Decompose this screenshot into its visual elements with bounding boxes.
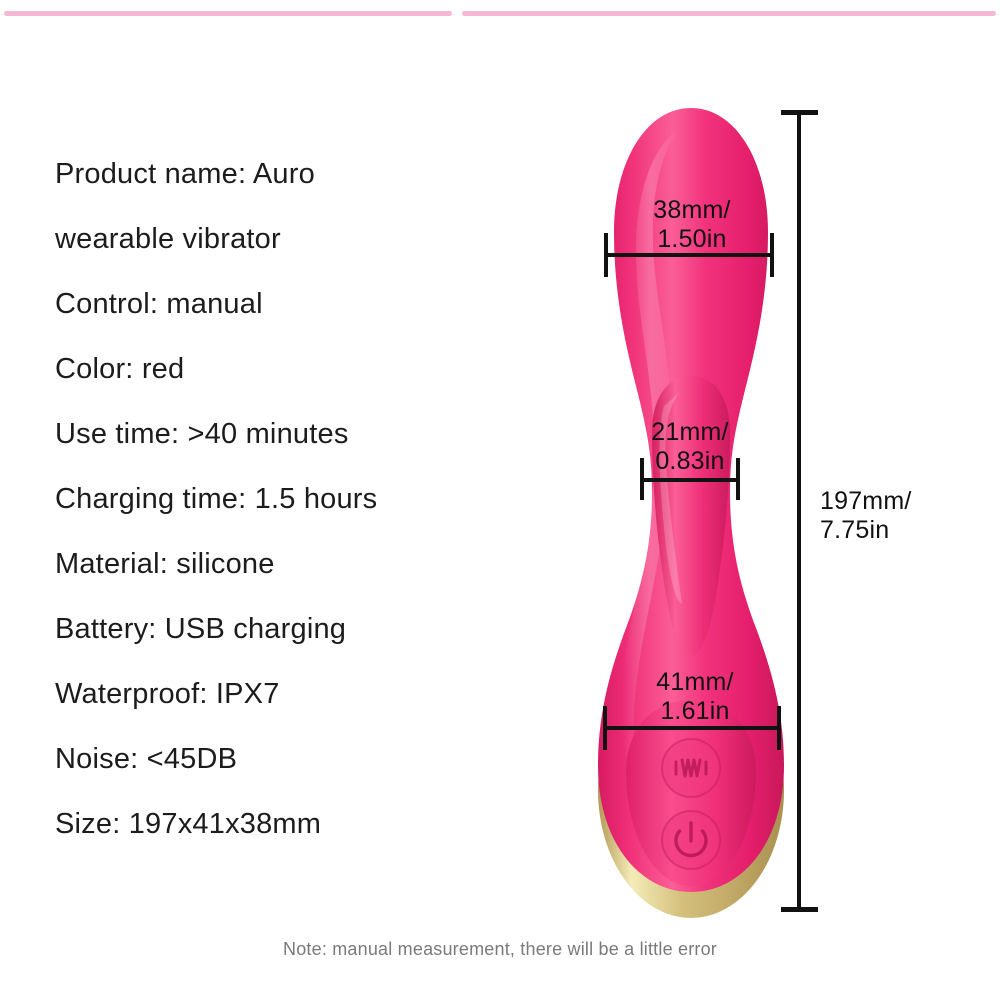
measure-cap-bottom-left xyxy=(603,706,607,750)
spec-control: Control: manual xyxy=(55,272,485,337)
measure-line-bottom-width xyxy=(603,726,781,730)
product-spec-page: Product name: Auro wearable vibrator Con… xyxy=(0,0,1000,1000)
vibration-wave-button[interactable] xyxy=(662,739,720,797)
power-button[interactable] xyxy=(662,811,720,869)
spec-color: Color: red xyxy=(55,337,485,402)
measure-cap-height-bottom xyxy=(781,907,818,912)
spec-material: Material: silicone xyxy=(55,532,485,597)
spec-waterproof: Waterproof: IPX7 xyxy=(55,662,485,727)
spec-size: Size: 197x41x38mm xyxy=(55,792,485,857)
dimension-label-top-width: 38mm/ 1.50in xyxy=(612,196,772,254)
measure-line-top-width xyxy=(604,253,774,257)
specification-list: Product name: Auro wearable vibrator Con… xyxy=(55,142,485,857)
spec-battery: Battery: USB charging xyxy=(55,597,485,662)
measure-cap-top-right xyxy=(770,233,774,277)
measure-cap-bottom-right xyxy=(777,706,781,750)
measure-line-total-height xyxy=(797,110,801,912)
spec-noise: Noise: <45DB xyxy=(55,727,485,792)
measurement-note: Note: manual measurement, there will be … xyxy=(0,939,1000,960)
measure-cap-mid-right xyxy=(736,458,740,500)
top-divider-right xyxy=(462,11,996,16)
dimension-label-bottom-width: 41mm/ 1.61in xyxy=(610,668,780,726)
measure-line-mid-width xyxy=(640,478,740,482)
measure-cap-top-left xyxy=(604,233,608,277)
spec-product-name-cont: wearable vibrator xyxy=(55,207,485,272)
measure-cap-mid-left xyxy=(640,458,644,500)
dimension-label-total-height: 197mm/ 7.75in xyxy=(820,487,950,545)
spec-charging-time: Charging time: 1.5 hours xyxy=(55,467,485,532)
top-divider-left xyxy=(4,11,452,16)
spec-use-time: Use time: >40 minutes xyxy=(55,402,485,467)
measure-cap-height-top xyxy=(781,110,818,115)
spec-product-name: Product name: Auro xyxy=(55,142,485,207)
